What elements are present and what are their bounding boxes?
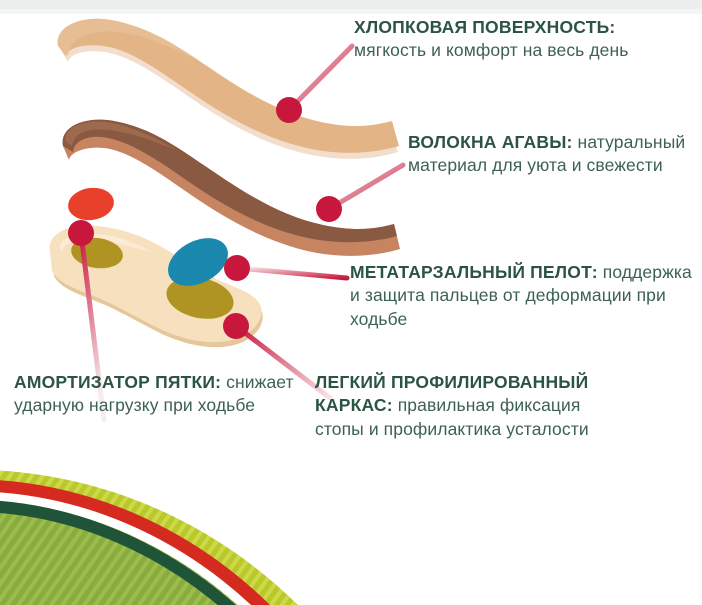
callout-light-profiled-frame: ЛЕГКИЙ ПРОФИЛИРОВАННЫЙ КАРКАС: правильна… (315, 371, 615, 441)
callout-heel-shock-absorber: АМОРТИЗАТОР ПЯТКИ: снижает ударную нагру… (14, 371, 299, 418)
marker-dot-agave (316, 196, 342, 222)
pad-heel-shock-absorber (66, 185, 116, 223)
infographic-canvas: ХЛОПКОВАЯ ПОВЕРХНОСТЬ: мягкость и комфор… (0, 0, 702, 605)
marker-dot-metatarsal (224, 255, 250, 281)
callout-heading: ВОЛОКНА АГАВЫ: (408, 132, 573, 152)
callout-heading: АМОРТИЗАТОР ПЯТКИ: (14, 372, 221, 392)
top-strip (0, 0, 702, 14)
callout-heading: ХЛОПКОВАЯ ПОВЕРХНОСТЬ: (354, 17, 615, 37)
marker-dot-heel (68, 220, 94, 246)
callout-body: мягкость и комфорт на весь день (354, 40, 628, 60)
callout-metatarsal-pad: МЕТАТАРЗАЛЬНЫЙ ПЕЛОТ: поддержка и защита… (350, 261, 698, 331)
green-ribbon-swoosh (0, 470, 330, 605)
callout-agave-fibers: ВОЛОКНА АГАВЫ: натуральный материал для … (408, 131, 688, 178)
callout-heading: МЕТАТАРЗАЛЬНЫЙ ПЕЛОТ: (350, 262, 598, 282)
callout-cotton-surface: ХЛОПКОВАЯ ПОВЕРХНОСТЬ: мягкость и комфор… (354, 16, 684, 63)
marker-dot-cotton (276, 97, 302, 123)
marker-dot-frame (223, 313, 249, 339)
